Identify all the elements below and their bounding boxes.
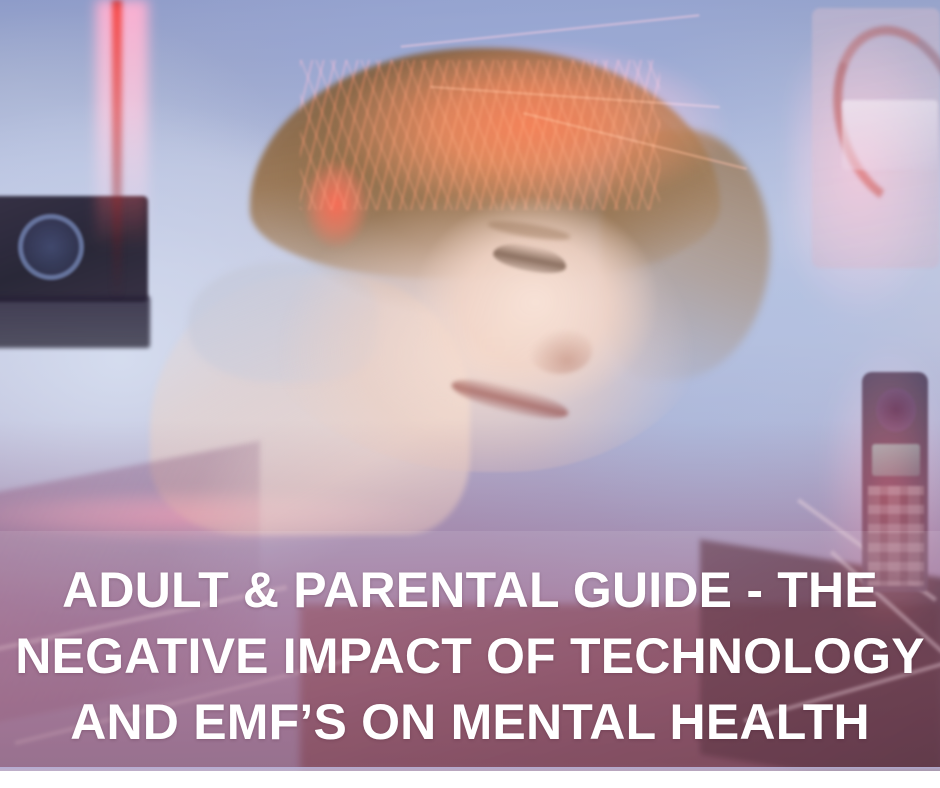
- hero-title-overlay: ADULT & PARENTAL GUIDE - THE NEGATIVE IM…: [0, 531, 940, 771]
- emf-glow-right: [790, 20, 940, 320]
- clock-radio-dial: [18, 214, 84, 280]
- page-title-line-3: AND EMF’S ON MENTAL HEALTH: [70, 689, 870, 755]
- clock-radio-base: [0, 296, 150, 348]
- page-title-line-1: ADULT & PARENTAL GUIDE - THE: [62, 557, 878, 623]
- emf-beam-left: [96, 0, 148, 250]
- page-title-line-2: NEGATIVE IMPACT OF TECHNOLOGY: [15, 623, 925, 689]
- article-hero-banner[interactable]: ADULT & PARENTAL GUIDE - THE NEGATIVE IM…: [0, 0, 940, 788]
